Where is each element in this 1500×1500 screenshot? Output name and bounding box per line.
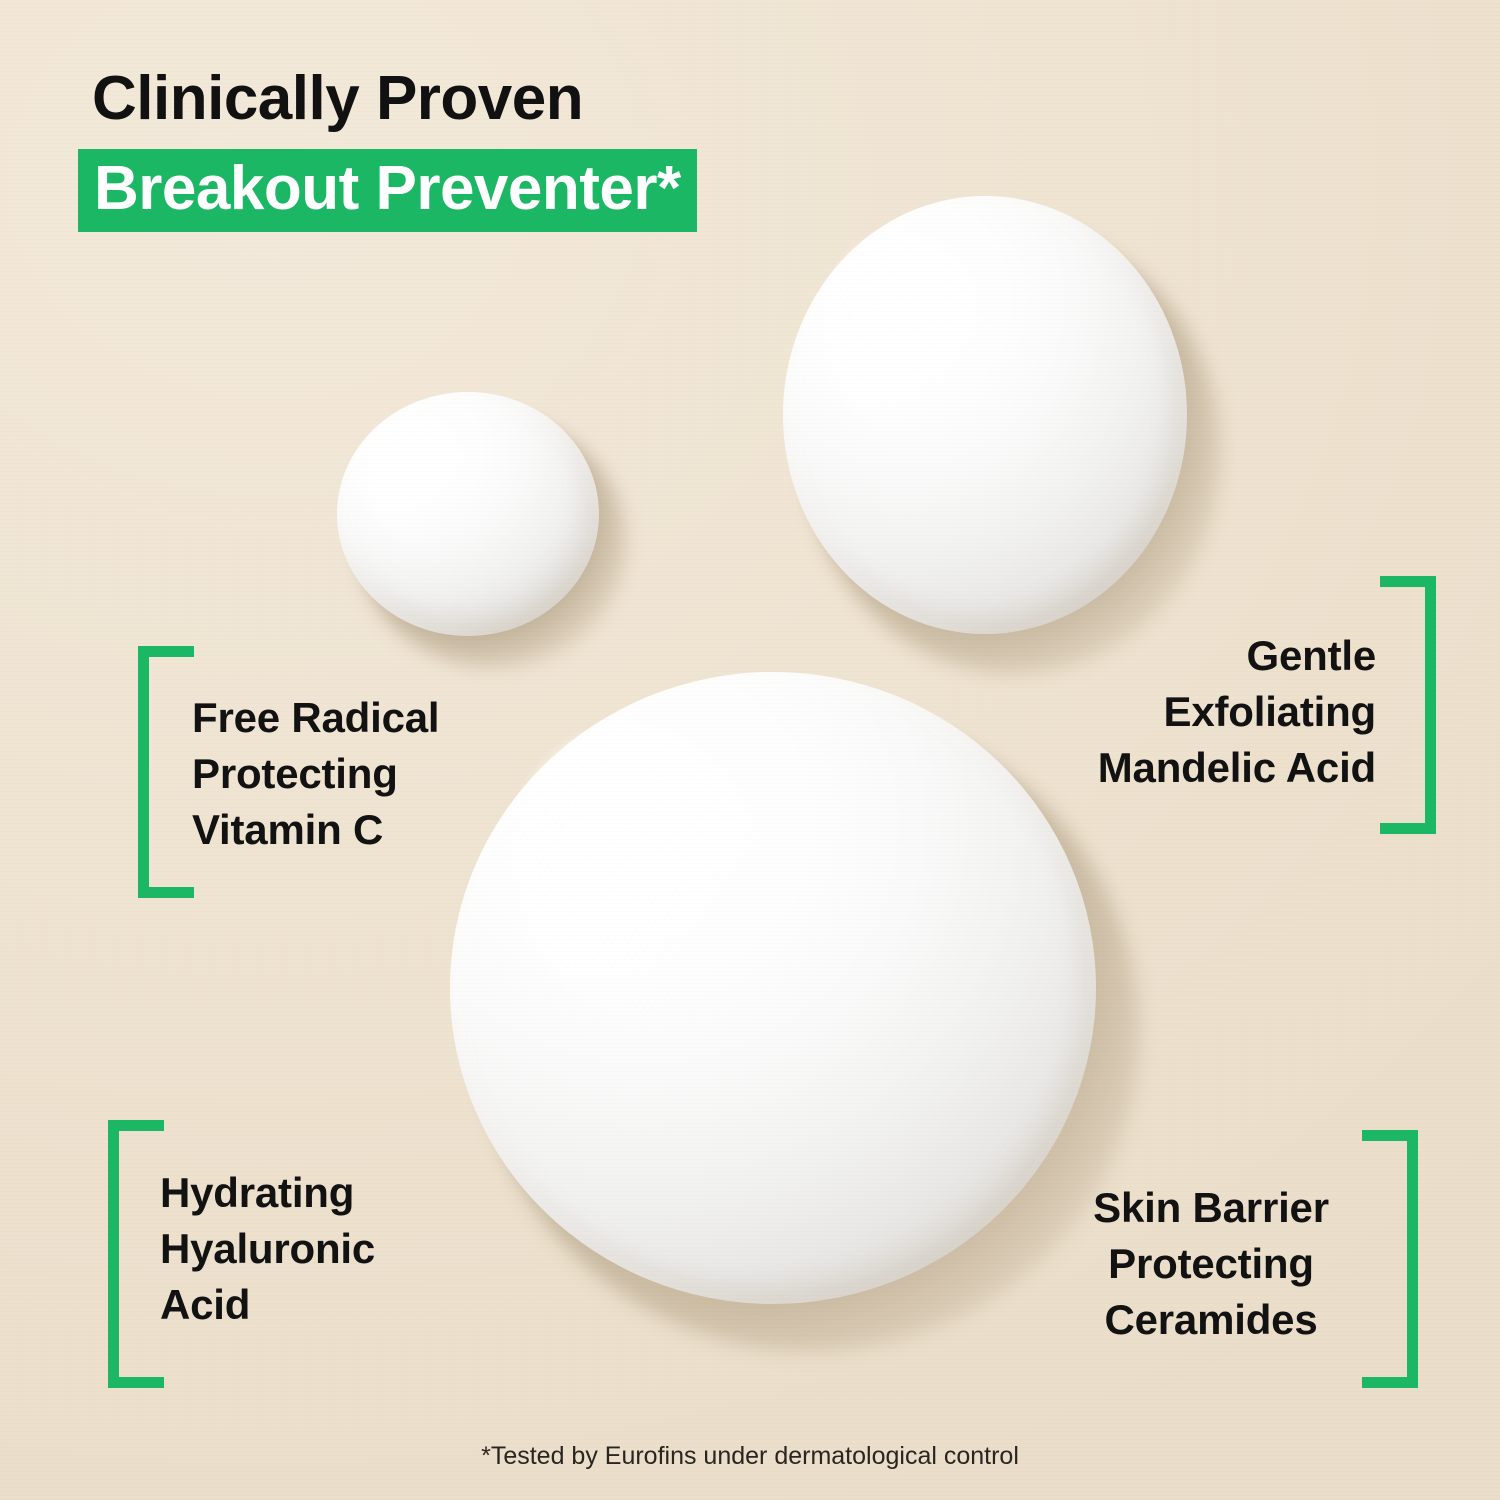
droplet-specular-spark: [383, 454, 417, 476]
product-claims-graphic: Clinically Proven Breakout Preventer* Fr…: [0, 0, 1500, 1500]
feature-label-vitamin-c: Free Radical Protecting Vitamin C: [192, 690, 522, 858]
bracket-vitamin-c: [138, 646, 194, 898]
medium-product-droplet: [783, 196, 1187, 634]
feature-line: Vitamin C: [192, 802, 522, 858]
footnote-disclaimer: *Tested by Eurofins under dermatological…: [0, 1442, 1500, 1471]
bracket-ceramides: [1362, 1130, 1418, 1388]
droplet-specular-spark: [845, 296, 891, 328]
feature-label-ceramides: Skin Barrier Protecting Ceramides: [1052, 1180, 1370, 1348]
bracket-mandelic-acid: [1380, 576, 1436, 834]
feature-line: Mandelic Acid: [1028, 740, 1376, 796]
bracket-hyaluronic-acid: [108, 1120, 164, 1388]
small-product-droplet: [337, 392, 599, 636]
headline-primary: Clinically Proven: [92, 66, 912, 131]
large-product-droplet: [450, 672, 1096, 1304]
feature-label-mandelic-acid: Gentle Exfoliating Mandelic Acid: [1028, 628, 1376, 796]
feature-line: Free Radical: [192, 690, 522, 746]
droplet-specular-spark: [554, 814, 612, 854]
headline-badge: Breakout Preventer*: [78, 149, 697, 232]
feature-line: Protecting: [192, 746, 522, 802]
feature-label-hyaluronic-acid: Hydrating Hyaluronic Acid: [160, 1165, 490, 1333]
feature-line: Gentle: [1028, 628, 1376, 684]
feature-line: Ceramides: [1052, 1292, 1370, 1348]
feature-line: Protecting: [1052, 1236, 1370, 1292]
feature-line: Hydrating: [160, 1165, 490, 1221]
feature-line: Acid: [160, 1277, 490, 1333]
feature-line: Exfoliating: [1028, 684, 1376, 740]
feature-line: Hyaluronic: [160, 1221, 490, 1277]
headline-block: Clinically Proven Breakout Preventer*: [92, 66, 912, 232]
feature-line: Skin Barrier: [1052, 1180, 1370, 1236]
